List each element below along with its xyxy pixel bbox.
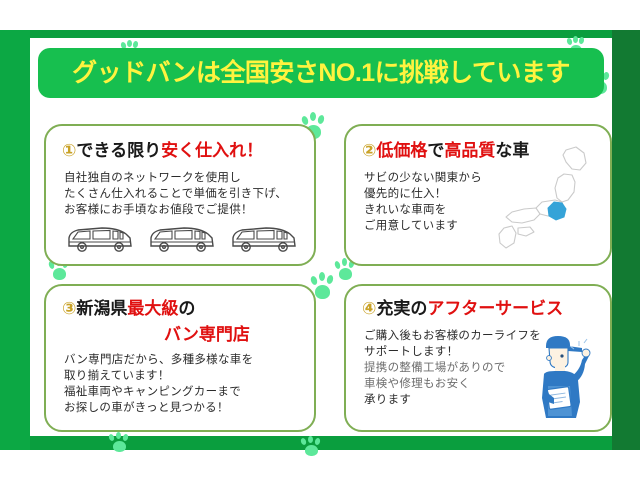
panel-3-title: ③新潟県最大級の bbox=[62, 300, 195, 317]
panel-4-title-black: 充実の bbox=[376, 299, 427, 318]
panel-4-body: ご購入後もお客様のカーライフを サポートします！ bbox=[364, 328, 541, 360]
panel-4-number: ④ bbox=[362, 299, 376, 318]
mechanic-illustration bbox=[524, 328, 596, 424]
feature-panel-2: ②低価格で高品質な車 サビの少ない関東から 優先的に仕入！ きれいな車両を ご用… bbox=[344, 124, 612, 266]
van-icon bbox=[228, 222, 300, 256]
headline-text: グッドバンは全国安さNO.1に挑戦しています bbox=[72, 61, 570, 86]
paw-print-icon bbox=[300, 436, 324, 458]
panel-1-number: ① bbox=[62, 141, 76, 160]
panel-3-title-black2: の bbox=[178, 299, 195, 318]
feature-panel-3: ③新潟県最大級の バン専門店 バン専門店だから、多種多様な車を 取り揃えています… bbox=[44, 284, 316, 432]
panel-3-title-red: 最大級 bbox=[127, 299, 178, 318]
japan-map-illustration bbox=[492, 144, 604, 260]
panel-3-title-line2: バン専門店 bbox=[164, 326, 250, 343]
headline-banner: グッドバンは全国安さNO.1に挑戦しています bbox=[38, 48, 604, 98]
panel-4-title-red: アフターサービス bbox=[427, 299, 563, 318]
panel-4-body-faded: 提携の整備工場がありので 車検や修理もお安く bbox=[364, 360, 506, 392]
advertisement-root: グッドバンは全国安さNO.1に挑戦しています ①できる限り安く仕入れ！ 自社独自… bbox=[0, 0, 640, 480]
panel-1-body: 自社独自のネットワークを使用し たくさん仕入れることで単価を引き下げ、 お客様に… bbox=[64, 170, 287, 218]
van-illustration-group bbox=[64, 222, 300, 256]
panel-2-body: サビの少ない関東から 優先的に仕入！ きれいな車両を ご用意しています bbox=[364, 170, 482, 234]
panel-2-title-red: 低価格 bbox=[376, 141, 427, 160]
frame-left-band bbox=[0, 30, 30, 450]
kanto-region-highlight bbox=[548, 202, 566, 220]
panel-1-title-red: 安く仕入れ！ bbox=[161, 141, 263, 160]
feature-panel-4: ④充実のアフターサービス ご購入後もお客様のカーライフを サポートします！ 提携… bbox=[344, 284, 612, 432]
frame-right-band bbox=[612, 30, 640, 450]
panel-4-body-tail: 承ります bbox=[364, 392, 411, 408]
panel-1-title: ①できる限り安く仕入れ！ bbox=[62, 142, 263, 159]
panel-2-title-red2: 高品質 bbox=[444, 141, 495, 160]
panel-1-title-black: できる限り bbox=[76, 141, 161, 160]
van-icon bbox=[64, 222, 136, 256]
panel-2-title-black: で bbox=[427, 141, 444, 160]
panel-3-title-black: 新潟県 bbox=[76, 299, 127, 318]
panel-3-number: ③ bbox=[62, 299, 76, 318]
panel-2-number: ② bbox=[362, 141, 376, 160]
paw-print-icon bbox=[108, 432, 132, 454]
panel-3-body: バン専門店だから、多種多様な車を 取り揃えています！ 福祉車両やキャンピングカー… bbox=[64, 352, 253, 416]
van-icon bbox=[146, 222, 218, 256]
panel-4-title: ④充実のアフターサービス bbox=[362, 300, 563, 317]
feature-panel-1: ①できる限り安く仕入れ！ 自社独自のネットワークを使用し たくさん仕入れることで… bbox=[44, 124, 316, 266]
